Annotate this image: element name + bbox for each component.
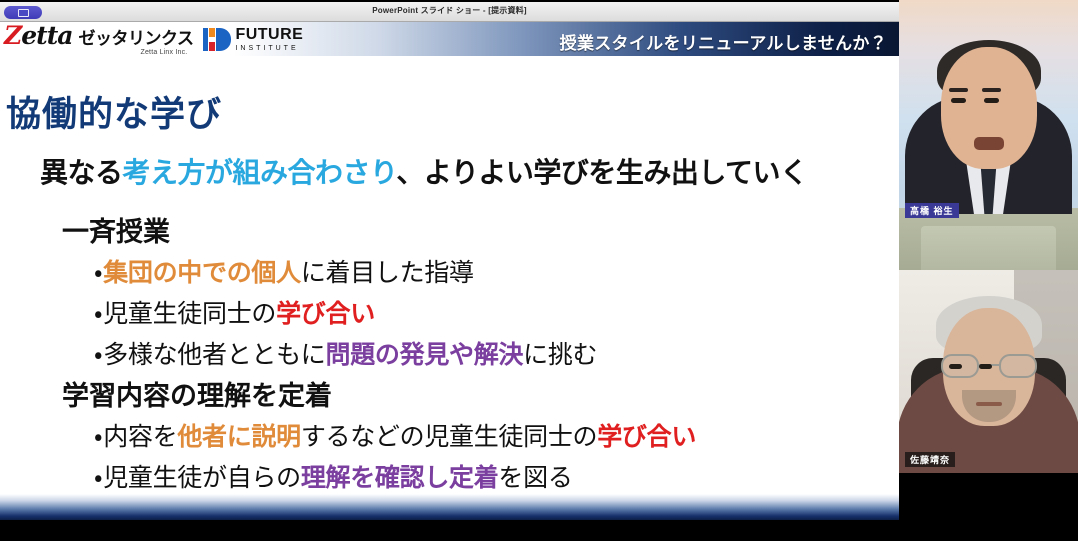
- participant-1-name-badge: 高橋 裕生: [905, 203, 959, 218]
- slide-section-1: 一斉授業 ・集団の中での個人に着目した指導・児童生徒同士の学び合い・多様な他者と…: [62, 210, 597, 376]
- future-institute-name: FUTURE: [235, 27, 303, 43]
- bullet-text-segment: に挑む: [523, 341, 597, 369]
- slide-footer-band: [0, 494, 899, 520]
- future-institute-mark-icon: [203, 28, 231, 51]
- zetta-kana-label: ゼッタリンクス: [78, 30, 193, 47]
- section-2-bullet-list: ・内容を他者に説明するなどの児童生徒同士の学び合い・児童生徒が自らの理解を確認し…: [94, 417, 696, 494]
- bullet-marker: ・: [94, 464, 102, 492]
- bullet-text-segment: 学び合い: [276, 300, 375, 328]
- zetta-rest-letters: etta: [21, 22, 72, 50]
- bullet-item: ・児童生徒が自らの理解を確認し定着を図る: [94, 458, 696, 494]
- section-1-heading: 一斉授業: [62, 210, 597, 249]
- future-institute-logo: FUTURE INSTITUTE: [203, 27, 303, 52]
- bullet-text-segment: 児童生徒が自らの: [103, 464, 301, 492]
- zetta-z-letter: Z: [4, 22, 21, 50]
- powerpoint-slide: Zetta ゼッタリンクス Zetta Linx Inc. FUTURE: [0, 22, 899, 520]
- subtitle-highlight: 考え方が組み合わさり: [123, 157, 397, 188]
- participant-1-video: [899, 0, 1078, 270]
- zetta-logo: Zetta ゼッタリンクス Zetta Linx Inc.: [4, 23, 193, 56]
- bullet-text-segment: 内容を: [103, 423, 177, 451]
- bullet-marker: ・: [94, 341, 102, 369]
- titlebar-text: PowerPoint スライド ショー - [提示資料]: [0, 5, 899, 16]
- participant-tile-1[interactable]: 高橋 裕生: [899, 0, 1078, 270]
- bullet-marker: ・: [94, 300, 102, 328]
- slide-subtitle: 異なる考え方が組み合わさり、よりよい学びを生み出していく: [40, 151, 808, 191]
- participant-2-name-badge: 佐藤靖奈: [905, 452, 955, 467]
- subtitle-part-1: 異なる: [40, 157, 123, 188]
- bullet-text-segment: 学び合い: [597, 423, 696, 451]
- powerpoint-titlebar: PowerPoint スライド ショー - [提示資料]: [0, 2, 899, 22]
- section-1-bullet-list: ・集団の中での個人に着目した指導・児童生徒同士の学び合い・多様な他者とともに問題…: [94, 253, 597, 371]
- section-2-heading: 学習内容の理解を定着: [62, 374, 696, 413]
- subtitle-part-3: 、よりよい学びを生み出していく: [396, 157, 807, 188]
- bullet-text-segment: 問題の発見や解決: [326, 341, 524, 369]
- participant-video-column: 高橋 裕生 佐藤靖奈: [899, 0, 1078, 541]
- bullet-text-segment: するなどの児童生徒同士の: [301, 423, 597, 451]
- bullet-text-segment: 児童生徒同士の: [103, 300, 276, 328]
- bullet-item: ・集団の中での個人に着目した指導: [94, 253, 597, 289]
- bullet-marker: ・: [94, 259, 102, 287]
- bullet-text-segment: 集団の中での個人: [103, 259, 301, 287]
- zetta-wordmark: Zetta: [4, 23, 72, 48]
- screen-share-meeting-view: PowerPoint スライド ショー - [提示資料] Zetta ゼッタリン…: [0, 0, 1078, 541]
- bullet-item: ・内容を他者に説明するなどの児童生徒同士の学び合い: [94, 417, 696, 453]
- slide-title: 協働的な学び: [6, 86, 222, 137]
- logo-group: Zetta ゼッタリンクス Zetta Linx Inc. FUTURE: [4, 25, 303, 53]
- future-institute-subname: INSTITUTE: [235, 45, 303, 52]
- bullet-marker: ・: [94, 423, 102, 451]
- slide-section-2: 学習内容の理解を定着 ・内容を他者に説明するなどの児童生徒同士の学び合い・児童生…: [62, 374, 696, 499]
- zetta-company-sublabel: Zetta Linx Inc.: [140, 49, 187, 56]
- slide-header-band: Zetta ゼッタリンクス Zetta Linx Inc. FUTURE: [0, 22, 899, 56]
- bullet-text-segment: 多様な他者とともに: [103, 341, 325, 369]
- bullet-text-segment: に着目した指導: [301, 259, 474, 287]
- bullet-text-segment: 他者に説明: [177, 423, 301, 451]
- slide-header-tagline: 授業スタイルをリニューアルしませんか？: [560, 29, 887, 54]
- bullet-item: ・多様な他者とともに問題の発見や解決に挑む: [94, 335, 597, 371]
- shared-screen-region: PowerPoint スライド ショー - [提示資料] Zetta ゼッタリン…: [0, 0, 899, 541]
- bullet-item: ・児童生徒同士の学び合い: [94, 294, 597, 330]
- empty-video-area: [899, 473, 1078, 541]
- participant-tile-2[interactable]: 佐藤靖奈: [899, 270, 1078, 541]
- bullet-text-segment: 理解を確認し定着: [301, 464, 499, 492]
- bullet-text-segment: を図る: [498, 464, 572, 492]
